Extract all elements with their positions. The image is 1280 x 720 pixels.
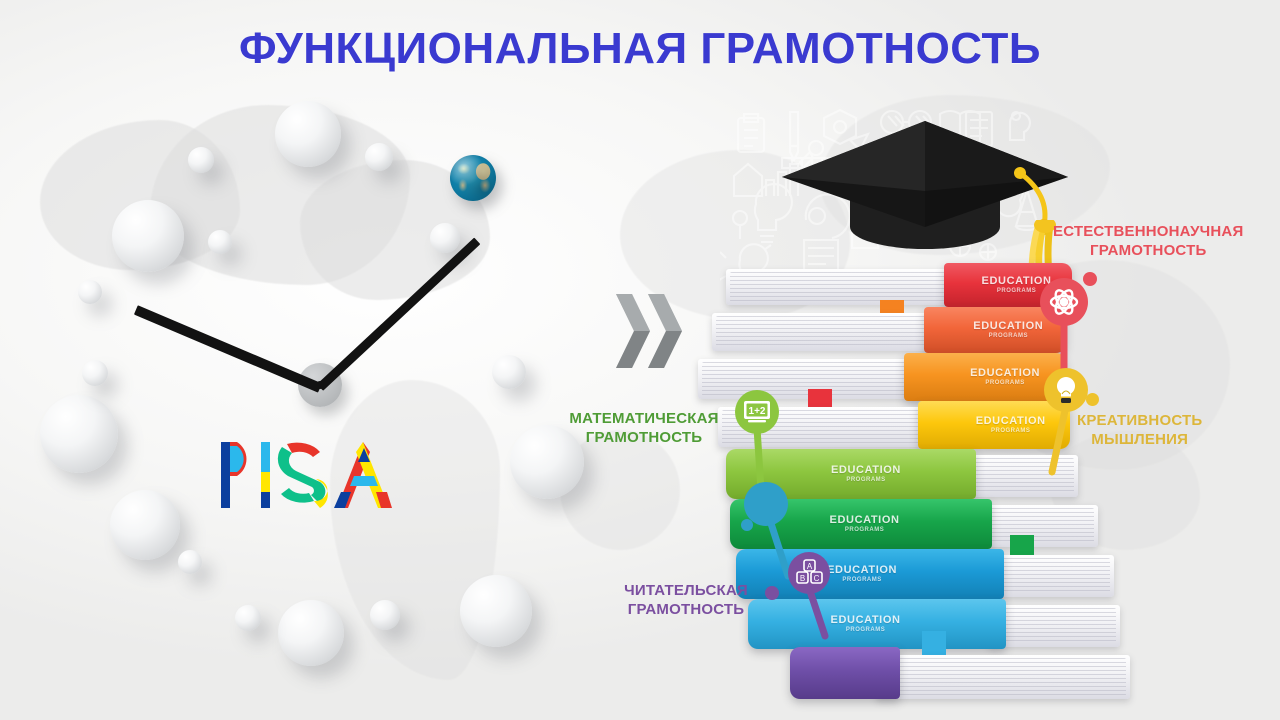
book-spine-label: EDUCATION PROGRAMS xyxy=(970,368,1040,386)
book-pages xyxy=(726,269,981,305)
clock-marker-1-small xyxy=(365,143,393,171)
earth-globe xyxy=(450,155,496,201)
book-spine-label: EDUCATION PROGRAMS xyxy=(973,321,1043,339)
reading-literacy-line2: ГРАМОТНОСТЬ xyxy=(628,601,744,618)
book-spine xyxy=(790,647,900,699)
book-spine-label: EDUCATION PROGRAMS xyxy=(831,615,901,633)
clock-marker-1 xyxy=(430,223,460,253)
clock-marker-4 xyxy=(460,575,532,647)
slide-canvas: ФУНКЦИОНАЛЬНАЯ ГРАМОТНОСТЬ xyxy=(0,0,1280,720)
clock-marker-8-small xyxy=(178,550,202,574)
science-accent-dot xyxy=(1083,272,1097,286)
math-literacy-line2: ГРАМОТНОСТЬ xyxy=(586,429,702,446)
book-pages xyxy=(988,605,1120,647)
double-chevron-right-icon xyxy=(614,288,694,374)
science-literacy-line2: ГРАМОТНОСТЬ xyxy=(1053,242,1243,261)
clock-minute-hand xyxy=(317,238,480,391)
clock-marker-12 xyxy=(275,101,341,167)
book-orange-deep: EDUCATION PROGRAMS xyxy=(712,307,1064,353)
abc-letter-a: A xyxy=(807,562,813,571)
creative-thinking-line2: МЫШЛЕНИЯ xyxy=(1077,431,1202,450)
science-literacy-label: ЕСТЕСТВЕННОНАУЧНАЯ ГРАМОТНОСТЬ xyxy=(1053,223,1243,261)
clock-marker-2 xyxy=(492,355,526,389)
clock-marker-10 xyxy=(112,200,184,272)
reading-literacy-label: ЧИТАТЕЛЬСКАЯ ГРАМОТНОСТЬ xyxy=(612,582,760,620)
clock-marker-5-small xyxy=(370,600,400,630)
clock-marker-12-small xyxy=(188,147,214,173)
clock-marker-9 xyxy=(40,395,118,473)
reading-literacy-node[interactable]: A B C xyxy=(785,552,833,642)
math-literacy-label: МАТЕМАТИЧЕСКАЯ ГРАМОТНОСТЬ xyxy=(564,410,724,448)
page-title: ФУНКЦИОНАЛЬНАЯ ГРАМОТНОСТЬ xyxy=(0,24,1280,74)
book-spine-label: EDUCATION PROGRAMS xyxy=(830,515,900,533)
book-pages xyxy=(986,555,1114,597)
book-pages xyxy=(876,655,1130,699)
clock-hour-hand xyxy=(134,305,322,392)
pisa-logo xyxy=(215,432,415,518)
reading-accent-dot xyxy=(765,586,779,600)
book-spine-label: EDUCATION PROGRAMS xyxy=(827,565,897,583)
clock-marker-10-small xyxy=(78,280,102,304)
math-icon-text: 1+2 xyxy=(749,406,766,417)
creative-thinking-line1: КРЕАТИВНОСТЬ xyxy=(1077,412,1202,429)
book-spine-label: EDUCATION PROGRAMS xyxy=(831,465,901,483)
creative-accent-dot xyxy=(1086,393,1099,406)
abc-letter-c: C xyxy=(814,574,820,583)
math-literacy-line1: МАТЕМАТИЧЕСКАЯ xyxy=(569,410,718,427)
creative-thinking-label: КРЕАТИВНОСТЬ МЫШЛЕНИЯ xyxy=(1077,412,1202,450)
abc-letter-b: B xyxy=(800,574,805,583)
clock-marker-7 xyxy=(110,490,180,560)
science-literacy-line1: ЕСТЕСТВЕННОНАУЧНАЯ xyxy=(1053,223,1243,240)
clock-marker-6 xyxy=(278,600,344,666)
wall-clock xyxy=(30,95,590,655)
clock-marker-6-small xyxy=(235,605,261,631)
reading-literacy-line1: ЧИТАТЕЛЬСКАЯ xyxy=(624,582,748,599)
book-spine-label: EDUCATION PROGRAMS xyxy=(976,416,1046,434)
clock-marker-9-small xyxy=(82,360,108,386)
clock-marker-11-small xyxy=(208,230,232,254)
book-purple xyxy=(790,647,1130,699)
